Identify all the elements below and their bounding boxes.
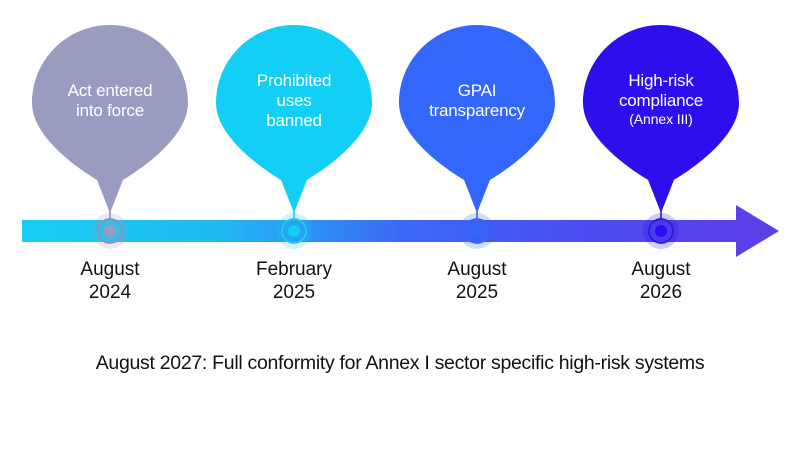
- balloon-act-entered-into-force[interactable]: [32, 25, 188, 213]
- timeline-diagram: Act entered into forceProhibited uses ba…: [0, 0, 800, 450]
- marker-dot: [655, 225, 667, 237]
- milestone-marker-gpai-transparency[interactable]: [459, 213, 495, 249]
- milestone-marker-act-entered-into-force[interactable]: [92, 213, 128, 249]
- milestone-marker-high-risk-compliance[interactable]: [643, 213, 679, 249]
- timeline-bar: [22, 220, 740, 242]
- marker-dot: [471, 225, 483, 237]
- date-label-high-risk-compliance: August 2026: [586, 258, 736, 304]
- balloon-prohibited-uses-banned[interactable]: [216, 25, 372, 213]
- date-label-prohibited-uses-banned: February 2025: [219, 258, 369, 304]
- marker-dot: [104, 225, 116, 237]
- balloons-layer: [32, 25, 739, 231]
- balloon-gpai-transparency[interactable]: [399, 25, 555, 213]
- balloon-high-risk-compliance[interactable]: [583, 25, 739, 213]
- timeline-graphics: [0, 0, 800, 450]
- footer-caption: August 2027: Full conformity for Annex I…: [0, 352, 800, 375]
- date-label-gpai-transparency: August 2025: [402, 258, 552, 304]
- date-label-act-entered-into-force: August 2024: [35, 258, 185, 304]
- timeline-arrow-head: [736, 205, 779, 257]
- marker-dot: [288, 225, 300, 237]
- milestone-marker-prohibited-uses-banned[interactable]: [276, 213, 312, 249]
